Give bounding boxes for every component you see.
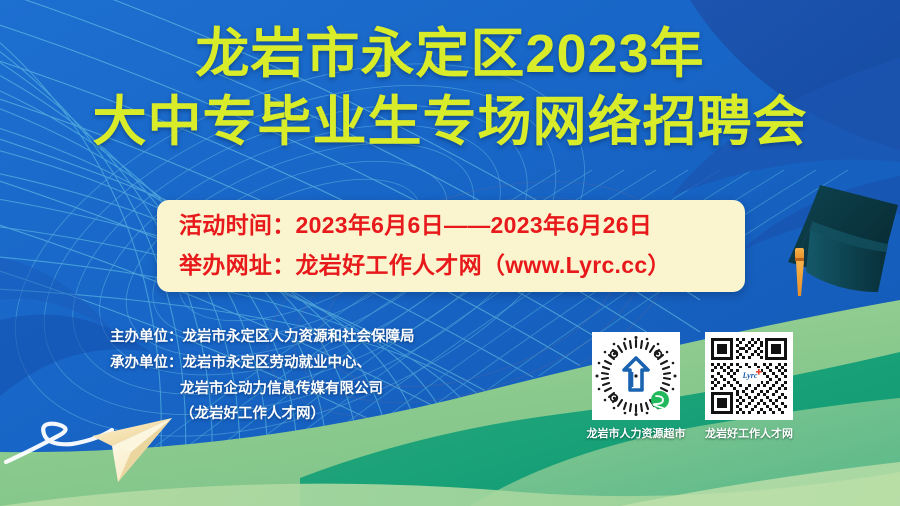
qr-item-hr-supermarket[interactable]: 龙岩市人力资源超市	[592, 332, 680, 441]
title-line-2: 大中专毕业生专场网络招聘会	[0, 94, 900, 150]
title-line-1: 龙岩市永定区2023年	[0, 26, 900, 82]
recruitment-poster: 龙岩市永定区2023年 大中专毕业生专场网络招聘会 活动时间：2023年6月6日…	[0, 0, 900, 506]
event-info-card: 活动时间：2023年6月6日——2023年6月26日 举办网址：龙岩好工作人才网…	[157, 200, 745, 292]
organizer-line-coorganizer-1: 承办单位：龙岩市永定区劳动就业中心、	[110, 351, 415, 377]
wechat-miniprogram-qr-icon[interactable]	[592, 332, 680, 420]
poster-title: 龙岩市永定区2023年 大中专毕业生专场网络招聘会	[0, 26, 900, 150]
organizer-block: 主办单位：龙岩市永定区人力资源和社会保障局 承办单位：龙岩市永定区劳动就业中心、…	[110, 325, 415, 428]
website-qr-icon[interactable]: Lyrc	[705, 332, 793, 420]
organizer-line-coorganizer-2: 龙岩市企动力信息传媒有限公司	[110, 377, 415, 403]
qr-code-row: 龙岩市人力资源超市	[592, 332, 793, 441]
qr-item-job-website[interactable]: Lyrc 龙岩好工作人才网	[705, 332, 793, 441]
qr-logo-text: Lyrc	[742, 371, 758, 380]
organizer-line-host: 主办单位：龙岩市永定区人力资源和社会保障局	[110, 325, 415, 351]
organizer-line-coorganizer-3: （龙岩好工作人才网）	[110, 402, 415, 428]
qr-caption-hr-supermarket: 龙岩市人力资源超市	[587, 425, 686, 441]
qr-caption-job-website: 龙岩好工作人才网	[705, 425, 793, 441]
event-time-line: 活动时间：2023年6月6日——2023年6月26日	[179, 206, 723, 246]
event-website-line: 举办网址：龙岩好工作人才网（www.Lyrc.cc）	[179, 246, 723, 286]
